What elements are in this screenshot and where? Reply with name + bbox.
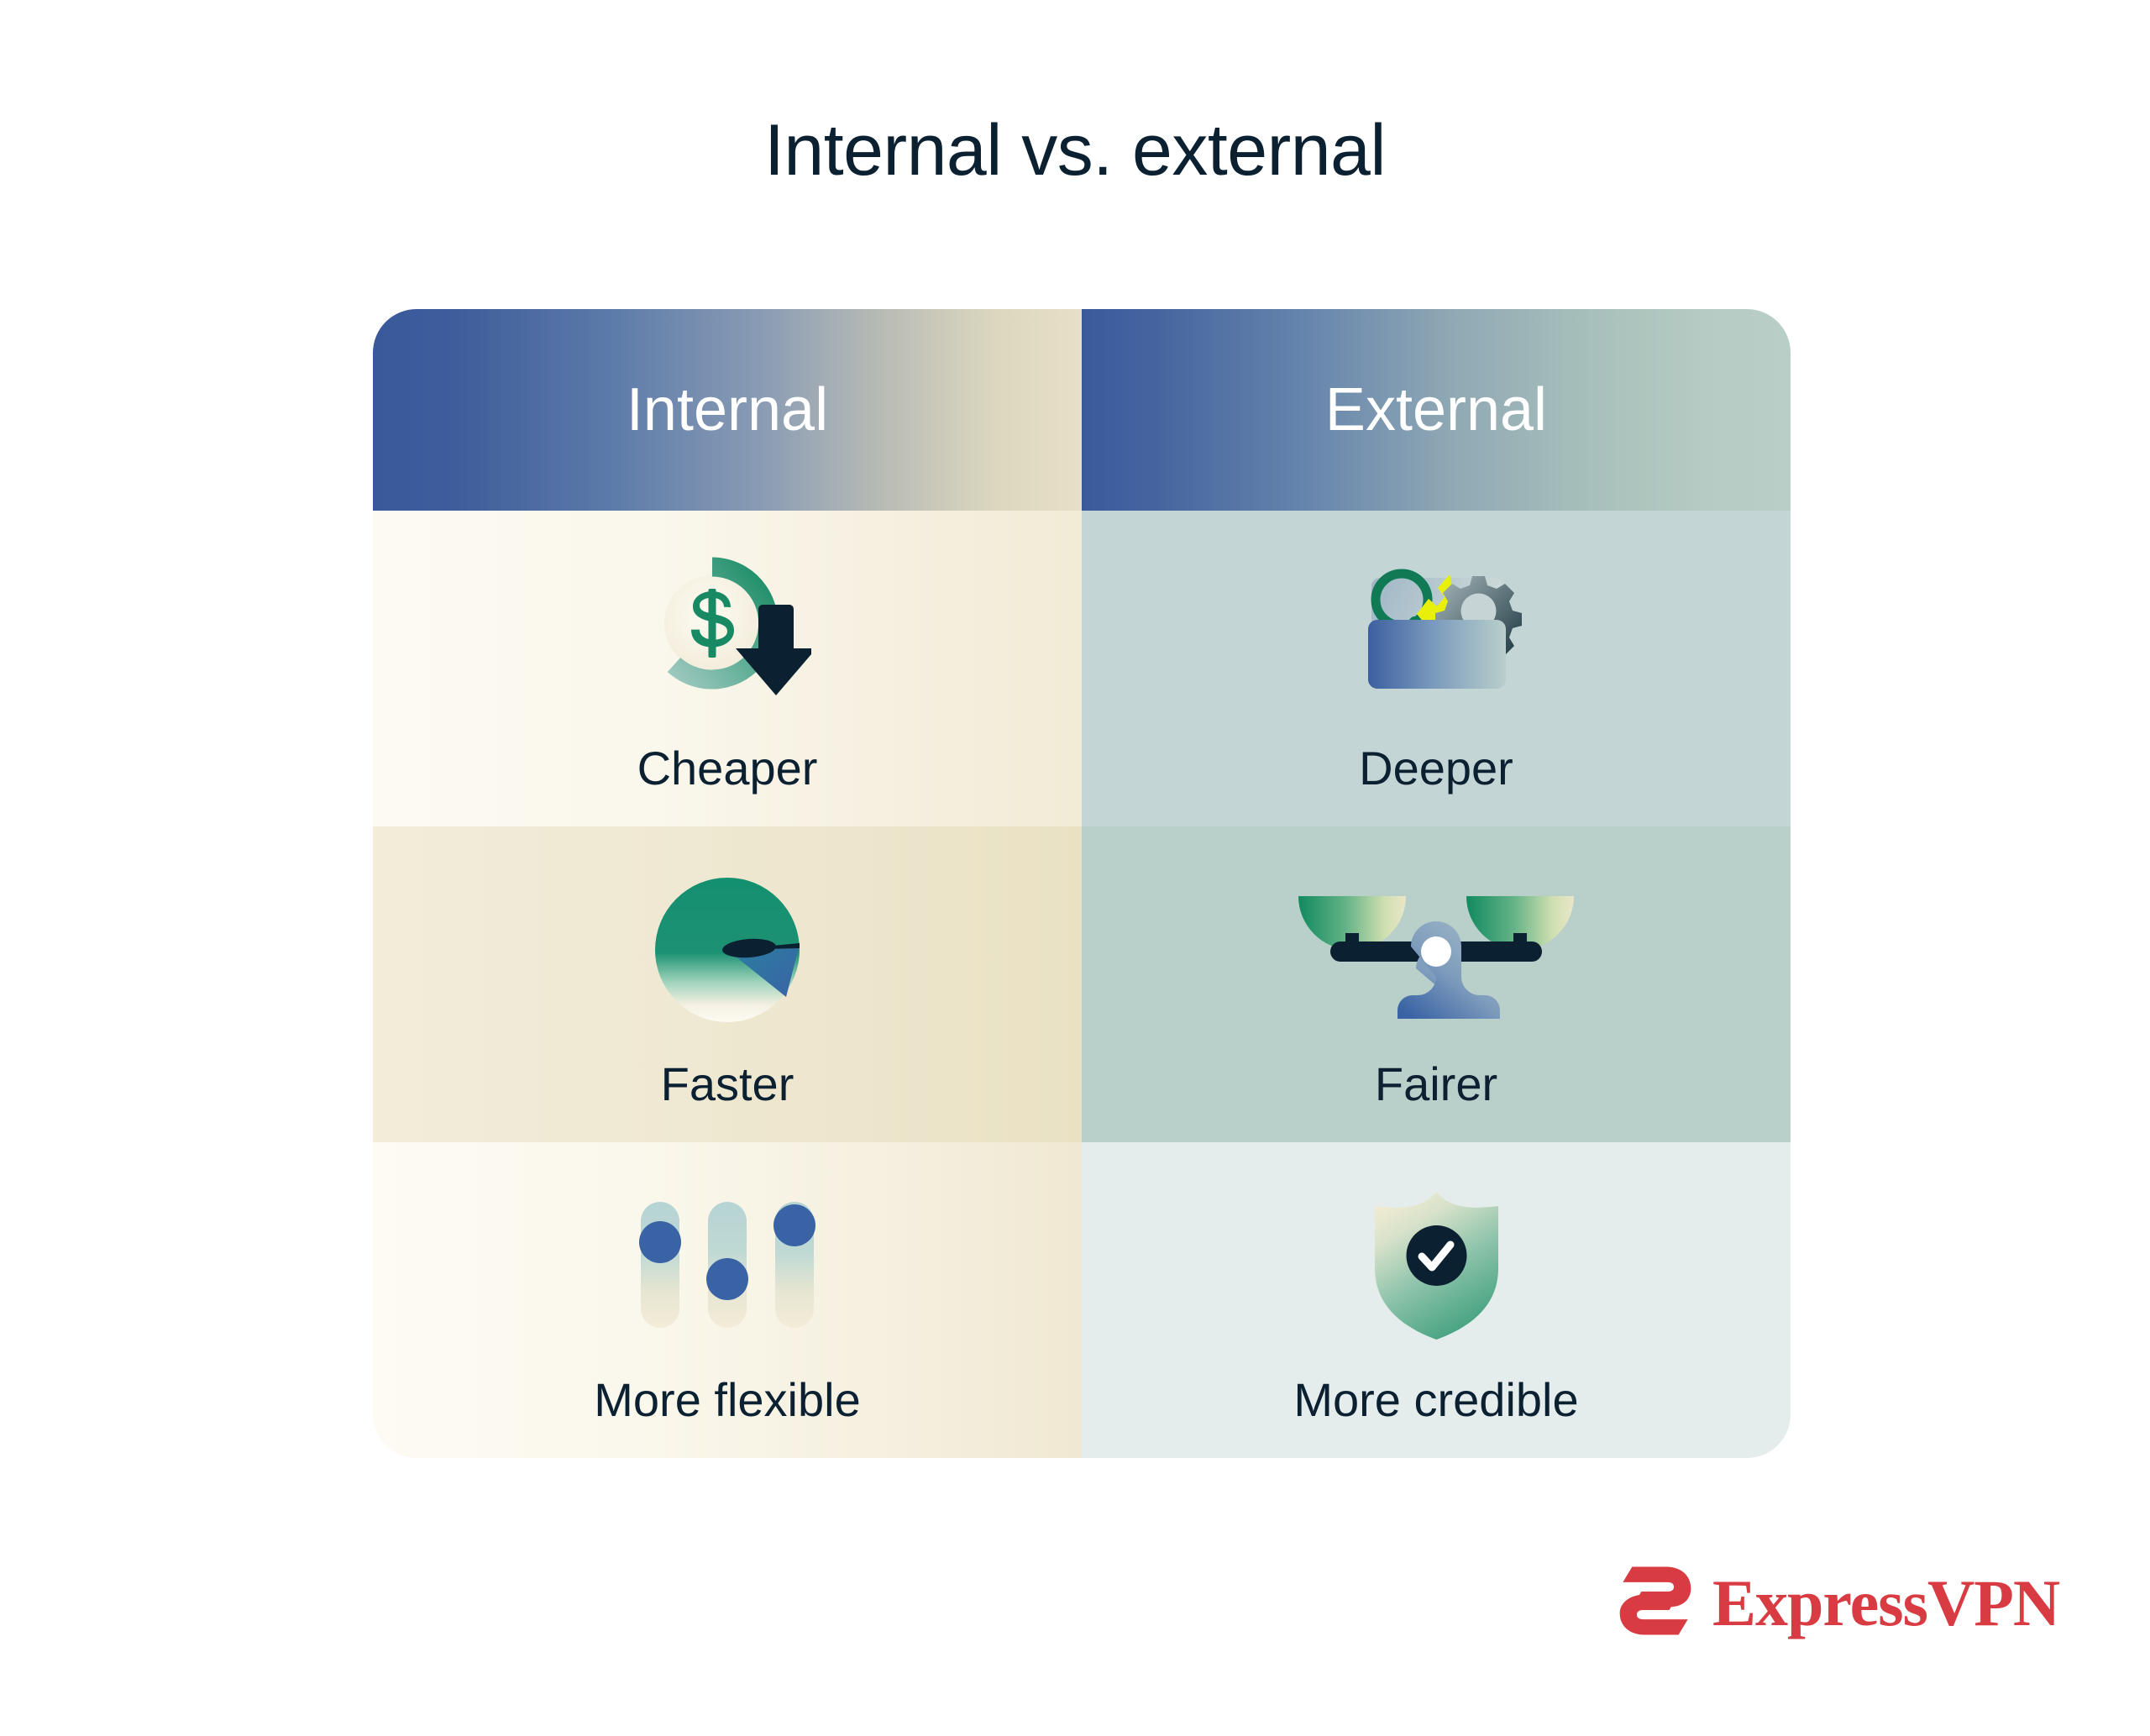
page-title: Internal vs. external	[0, 111, 2150, 191]
sliders-icon	[631, 1186, 824, 1345]
expressvpn-e-logo-icon	[1617, 1562, 1694, 1644]
cell-label: Fairer	[1375, 1058, 1497, 1110]
cell-internal-cheaper: Cheaper	[373, 511, 1082, 826]
cell-external-deeper: Deeper	[1082, 511, 1791, 826]
table-row: Cheaper	[373, 511, 1791, 826]
cell-internal-faster: Faster	[373, 826, 1082, 1142]
cell-label: Faster	[661, 1058, 794, 1110]
comparison-card: Internal External	[373, 309, 1791, 1458]
toolbox-icon	[1348, 554, 1524, 714]
table-row: Faster	[373, 826, 1791, 1142]
column-header-external: External	[1082, 309, 1791, 511]
cell-label: Deeper	[1359, 742, 1513, 795]
column-header-internal: Internal	[373, 309, 1082, 511]
table-header-row: Internal External	[373, 309, 1791, 511]
shield-check-icon	[1363, 1186, 1510, 1345]
balance-scale-icon	[1293, 870, 1579, 1030]
cell-label: More flexible	[594, 1374, 860, 1426]
table-row: More flexible	[373, 1142, 1791, 1458]
cell-external-fairer: Fairer	[1082, 826, 1791, 1142]
cell-external-more-credible: More credible	[1082, 1142, 1791, 1458]
table-body: Cheaper	[373, 511, 1791, 1458]
infographic-page: Internal vs. external Internal External	[0, 0, 2150, 1736]
column-header-internal-label: Internal	[627, 380, 828, 440]
cell-internal-more-flexible: More flexible	[373, 1142, 1082, 1458]
cell-label: More credible	[1293, 1374, 1578, 1426]
speedometer-icon	[652, 870, 803, 1030]
column-header-external-label: External	[1325, 380, 1547, 440]
money-decrease-icon	[643, 554, 811, 714]
expressvpn-wordmark: ExpressVPN	[1712, 1571, 2059, 1636]
expressvpn-logo: ExpressVPN	[1617, 1562, 2059, 1644]
cell-label: Cheaper	[637, 742, 818, 795]
